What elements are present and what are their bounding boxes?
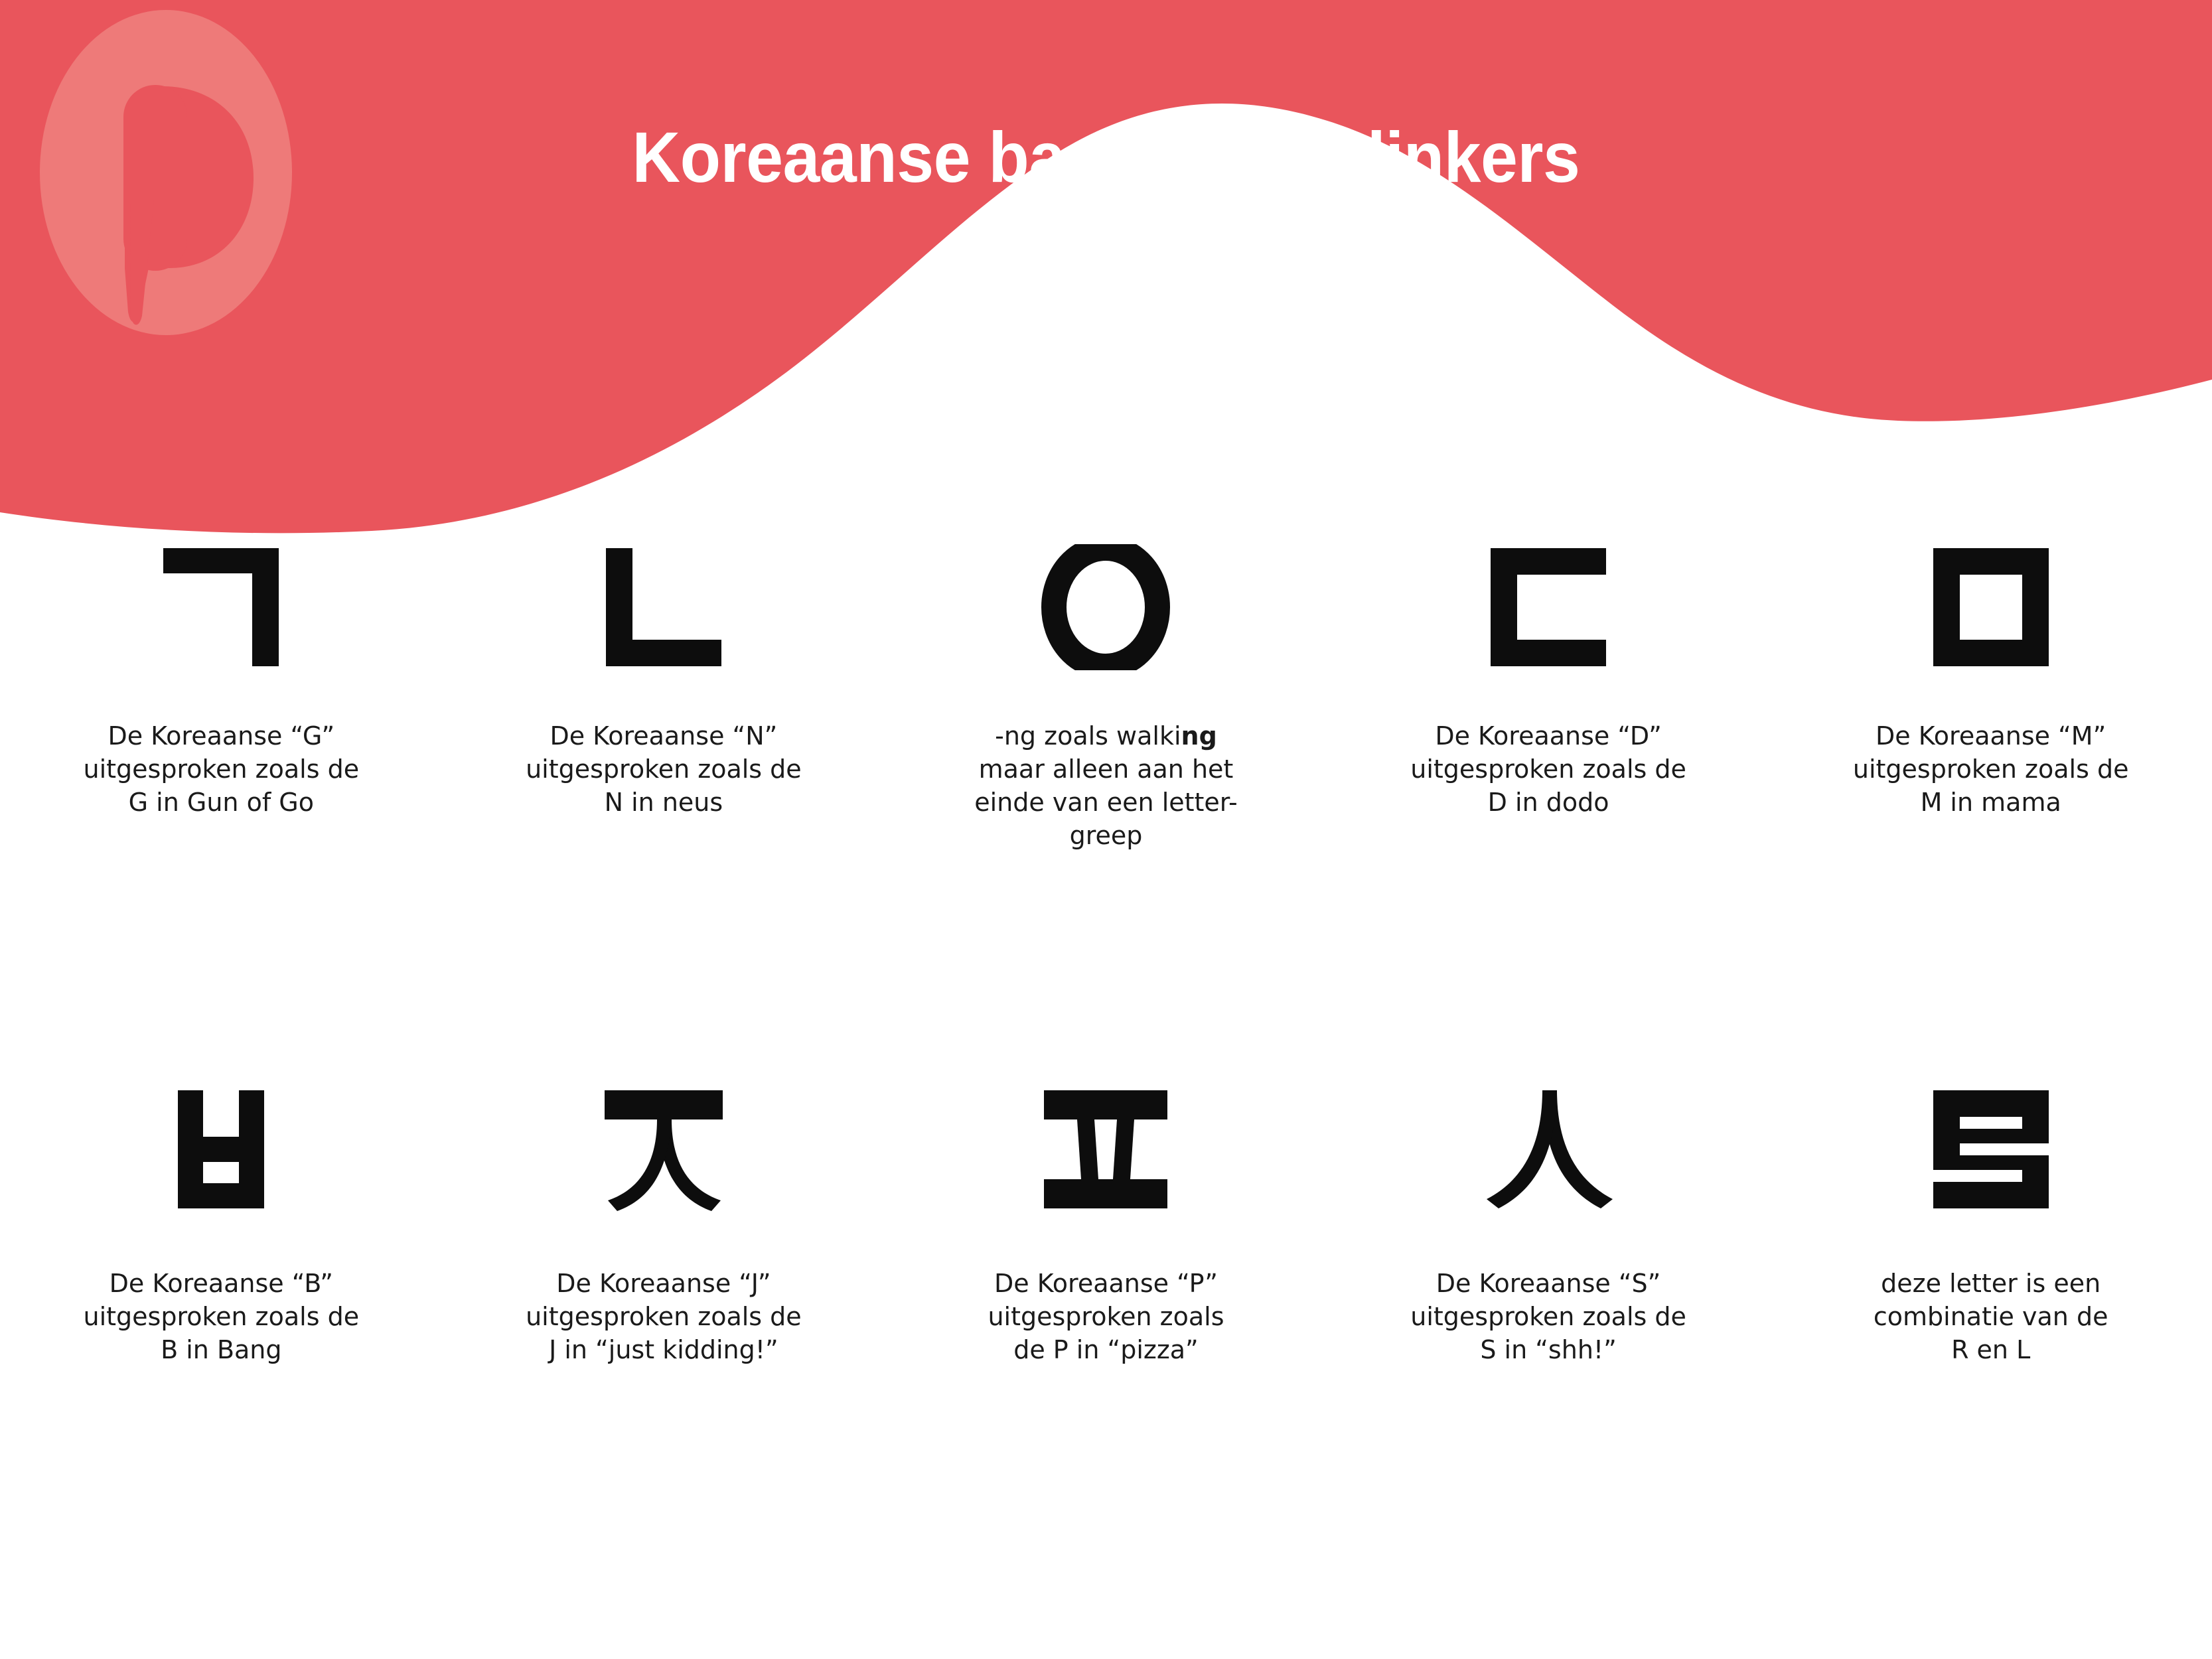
letter-caption: De Koreaanse “S” uitgesproken zoals de S…	[1402, 1267, 1694, 1366]
letter-caption: De Koreaanse “M” uitgesproken zoals de M…	[1845, 719, 2137, 819]
letter-card-digeut[interactable]: De Koreaanse “D” uitgesproken zoals de D…	[1327, 544, 1770, 853]
hangul-nieun-icon	[594, 544, 733, 670]
consonant-row-1: De Koreaanse “G” uitgesproken zoals de G…	[0, 544, 2212, 853]
letter-caption: deze letter is een combinatie van de R e…	[1845, 1267, 2137, 1366]
letter-card-mieum[interactable]: De Koreaanse “M” uitgesproken zoals de M…	[1769, 544, 2212, 853]
header-wave-shape	[0, 0, 2212, 571]
letter-card-ieung[interactable]: -ng zoals walking maar alleen aan het ei…	[885, 544, 1327, 853]
letter-card-siot[interactable]: De Koreaanse “S” uitgesproken zoals de S…	[1327, 1086, 1770, 1366]
bold-ng: ng	[1181, 721, 1217, 751]
letter-card-giyeok[interactable]: De Koreaanse “G” uitgesproken zoals de G…	[0, 544, 443, 853]
header-background	[0, 0, 2212, 571]
infographic-poster: Koreaanse basismedeklinkers De Koreaanse…	[0, 0, 2212, 1659]
letter-card-jieut[interactable]: De Koreaanse “J” uitgesproken zoals de J…	[443, 1086, 885, 1366]
letter-caption: De Koreaanse “G” uitgesproken zoals de G…	[75, 719, 367, 819]
letter-card-bieup[interactable]: De Koreaanse “B” uitgesproken zoals de B…	[0, 1086, 443, 1366]
letter-caption: De Koreaanse “B” uitgesproken zoals de B…	[75, 1267, 367, 1366]
hangul-jieut-icon	[594, 1086, 733, 1212]
hangul-pieup-icon	[1036, 1086, 1175, 1212]
consonant-row-2: De Koreaanse “B” uitgesproken zoals de B…	[0, 1086, 2212, 1366]
hangul-mieum-icon	[1921, 544, 2061, 670]
letter-card-pieup[interactable]: De Koreaanse “P” uitgesproken zoals de P…	[885, 1086, 1327, 1366]
letter-caption: De Koreaanse “P” uitgesproken zoals de P…	[960, 1267, 1252, 1366]
letter-caption: -ng zoals walking maar alleen aan het ei…	[960, 719, 1252, 853]
letter-caption: De Koreaanse “J” uitgesproken zoals de J…	[518, 1267, 810, 1366]
hangul-siot-icon	[1479, 1086, 1618, 1212]
consonant-grid: De Koreaanse “G” uitgesproken zoals de G…	[0, 544, 2212, 1366]
hangul-bieup-icon	[151, 1086, 291, 1212]
hangul-giyeok-icon	[151, 544, 291, 670]
header-band: Koreaanse basismedeklinkers	[0, 0, 2212, 571]
page-title: Koreaanse basismedeklinkers	[78, 118, 2135, 197]
letter-caption: De Koreaanse “D” uitgesproken zoals de D…	[1402, 719, 1694, 819]
letter-card-rieul[interactable]: deze letter is een combinatie van de R e…	[1769, 1086, 2212, 1366]
hangul-rieul-icon	[1921, 1086, 2061, 1212]
letter-card-nieun[interactable]: De Koreaanse “N” uitgesproken zoals de N…	[443, 544, 885, 853]
hangul-digeut-icon	[1479, 544, 1618, 670]
letter-caption: De Koreaanse “N” uitgesproken zoals de N…	[518, 719, 810, 819]
hangul-ieung-icon	[1036, 544, 1175, 670]
